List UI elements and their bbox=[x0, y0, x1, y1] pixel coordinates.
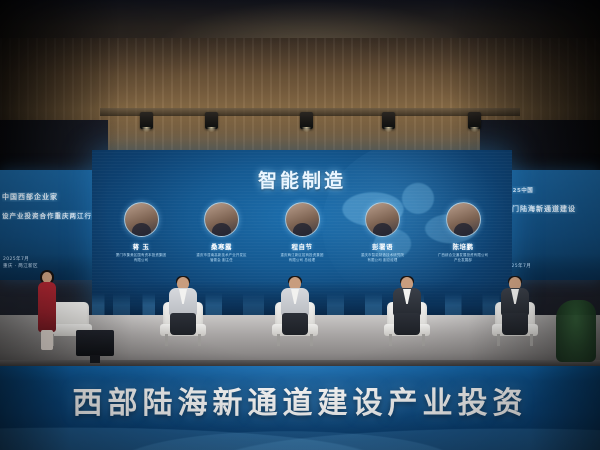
side-led-left-line1: 中国西部企业家 bbox=[2, 192, 94, 202]
photo-scene: 中国西部企业家 设产业投资合作重庆两江行活动 2025年7月 重庆 · 两江新区… bbox=[0, 0, 600, 450]
side-led-left-date-line1: 2025年7月 bbox=[3, 256, 38, 263]
stage-monitor-speaker bbox=[76, 330, 114, 356]
panelist-org: 重庆市潼南高新技术产业开发区 管委会 副主任 bbox=[187, 253, 257, 263]
panelist-org: 厦门市集美区国有资本投资集团 有限公司 bbox=[106, 253, 176, 263]
monitor-stand bbox=[90, 355, 100, 363]
seated-guest bbox=[496, 277, 534, 337]
panelist-org: 重庆两江新区招商投资集团 有限公司 总经理 bbox=[267, 253, 337, 263]
spotlight-icon bbox=[300, 112, 313, 129]
legs bbox=[170, 313, 196, 335]
side-led-right-line2: 厦门陆海新通道建设 bbox=[504, 204, 598, 214]
spotlight-icon bbox=[382, 112, 395, 129]
panelist-name: 程自节 bbox=[267, 241, 337, 251]
side-led-left-date-line2: 重庆 · 两江新区 bbox=[3, 263, 38, 270]
panelist-card: 彭署语 重庆市智能制造技术研究院 有限公司 副总经理 bbox=[348, 202, 418, 263]
red-dress bbox=[38, 282, 56, 332]
panelist-org-line: 有限公司 总经理 bbox=[267, 258, 337, 263]
seated-guest bbox=[164, 277, 202, 337]
side-led-right: 2025中国 厦门陆海新通道建设 2025年7月 bbox=[502, 170, 600, 280]
panelist-card: 蒋 玉 厦门市集美区国有资本投资集团 有限公司 bbox=[106, 202, 176, 263]
seated-guest bbox=[276, 277, 314, 337]
side-led-left-date: 2025年7月 重庆 · 两江新区 bbox=[3, 256, 38, 270]
panelist-name: 蒋 玉 bbox=[106, 241, 176, 251]
side-led-right-line1: 2025中国 bbox=[504, 186, 598, 194]
panelist-name: 桑寒露 bbox=[187, 241, 257, 251]
legs bbox=[282, 313, 308, 335]
panelist-card: 桑寒露 重庆市潼南高新技术产业开发区 管委会 副主任 bbox=[187, 202, 257, 263]
spotlight-icon bbox=[140, 112, 153, 129]
banner-shadow-left bbox=[0, 366, 70, 450]
panelist-org-line: 管委会 副主任 bbox=[187, 258, 257, 263]
panelist-org: 重庆市智能制造技术研究院 有限公司 副总经理 bbox=[348, 253, 418, 263]
side-led-left: 中国西部企业家 设产业投资合作重庆两江行活动 2025年7月 重庆 · 两江新区 bbox=[0, 170, 96, 280]
panelist-list: 蒋 玉 厦门市集美区国有资本投资集团 有限公司 桑寒露 重庆市潼南高新技术产业开… bbox=[106, 202, 498, 263]
legs bbox=[394, 313, 420, 335]
seated-guest bbox=[388, 277, 426, 337]
panelist-card: 程自节 重庆两江新区招商投资集团 有限公司 总经理 bbox=[267, 202, 337, 263]
avatar bbox=[446, 202, 481, 237]
side-led-left-line2: 设产业投资合作重庆两江行活动 bbox=[2, 210, 94, 220]
avatar bbox=[285, 202, 320, 237]
banner-shadow-right bbox=[530, 366, 600, 450]
panelist-card: 陈培鹏 广西综合交通发展投资有限公司 产业发展部 bbox=[428, 202, 498, 263]
panelist-name: 陈培鹏 bbox=[428, 241, 498, 251]
avatar bbox=[365, 202, 400, 237]
panelist-org-line: 产业发展部 bbox=[428, 258, 498, 263]
led-screen-title: 智能制造 bbox=[92, 166, 512, 193]
avatar bbox=[204, 202, 239, 237]
avatar bbox=[124, 202, 159, 237]
banner-title: 西部陆海新通道建设产业投资 bbox=[0, 378, 600, 422]
legs bbox=[502, 313, 528, 335]
legs bbox=[41, 330, 53, 350]
foreground-banner: 西部陆海新通道建设产业投资 bbox=[0, 366, 600, 450]
panelist-org-line: 有限公司 副总经理 bbox=[348, 258, 418, 263]
panelist-name: 彭署语 bbox=[348, 241, 418, 251]
host-presenter bbox=[34, 272, 60, 350]
panelist-org-line: 有限公司 bbox=[106, 258, 176, 263]
panelist-org: 广西综合交通发展投资有限公司 产业发展部 bbox=[428, 253, 498, 263]
spotlight-icon bbox=[205, 112, 218, 129]
potted-plant bbox=[556, 300, 596, 362]
